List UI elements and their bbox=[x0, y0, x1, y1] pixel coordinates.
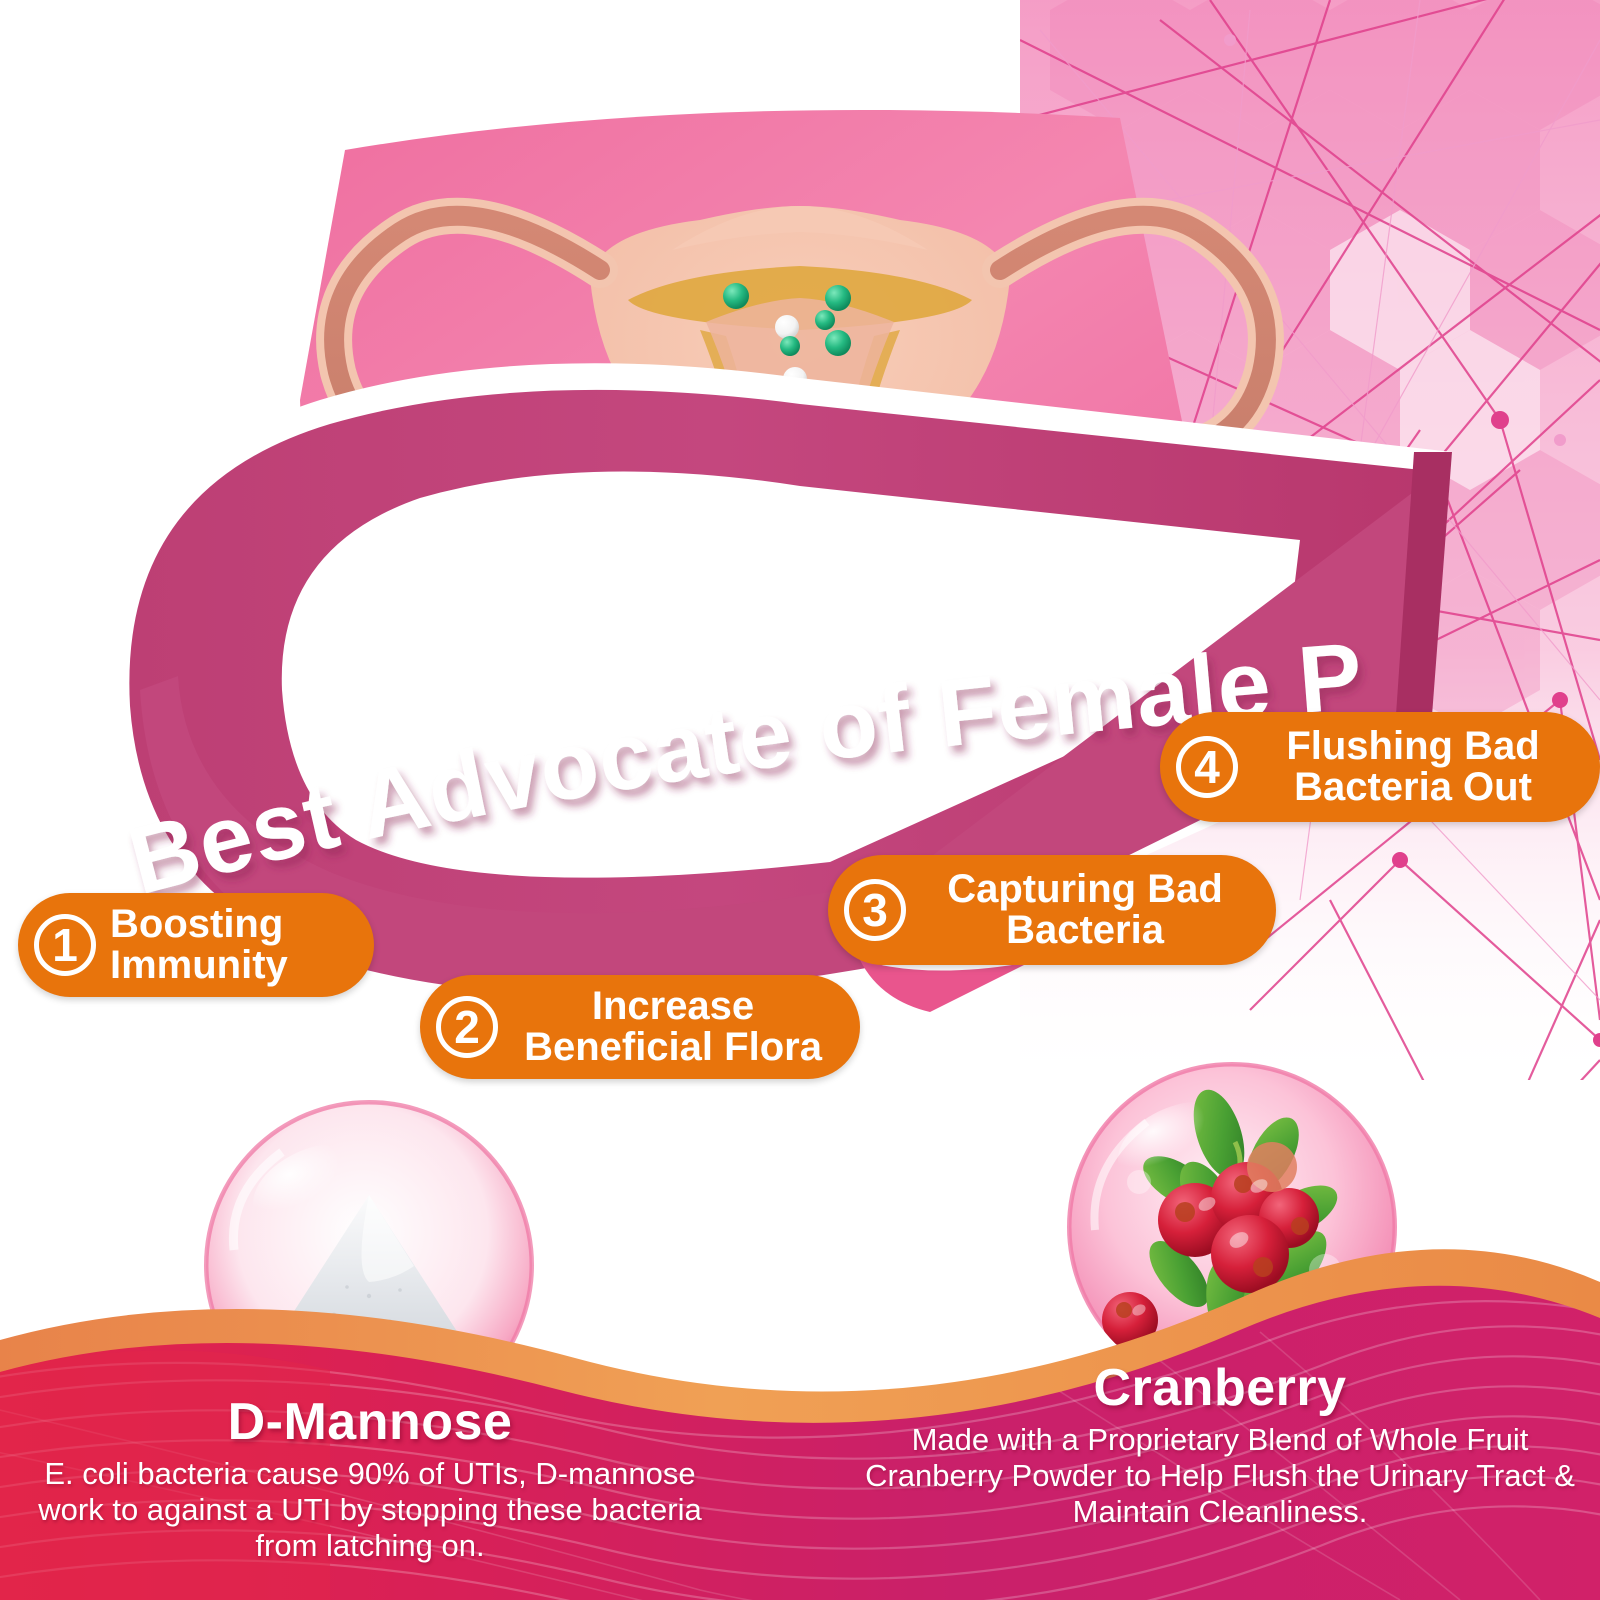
cranberry-title: Cranberry bbox=[860, 1358, 1580, 1418]
d-mannose-title: D-Mannose bbox=[20, 1392, 720, 1452]
cranberry-info: Cranberry Made with a Proprietary Blend … bbox=[860, 1358, 1580, 1530]
infographic-canvas: Best Advocate of Female Parts! 1 Boostin… bbox=[0, 0, 1600, 1600]
d-mannose-info: D-Mannose E. coli bacteria cause 90% of … bbox=[20, 1392, 720, 1564]
d-mannose-description: E. coli bacteria cause 90% of UTIs, D-ma… bbox=[20, 1456, 720, 1564]
cranberry-description: Made with a Proprietary Blend of Whole F… bbox=[860, 1422, 1580, 1530]
